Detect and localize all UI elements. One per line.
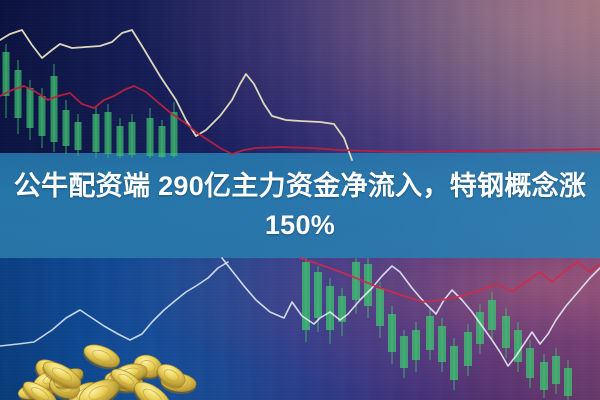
red-trend-line — [300, 258, 600, 302]
headline-container: 公牛配资端 290亿主力资金净流入，特钢概念涨150% — [0, 153, 600, 258]
coin-group — [17, 340, 198, 400]
page-title: 公牛配资端 290亿主力资金净流入，特钢概念涨150% — [8, 167, 592, 244]
banner-image: 公牛配资端 290亿主力资金净流入，特钢概念涨150% — [0, 0, 600, 400]
gold-coin-pile-icon — [10, 318, 215, 400]
